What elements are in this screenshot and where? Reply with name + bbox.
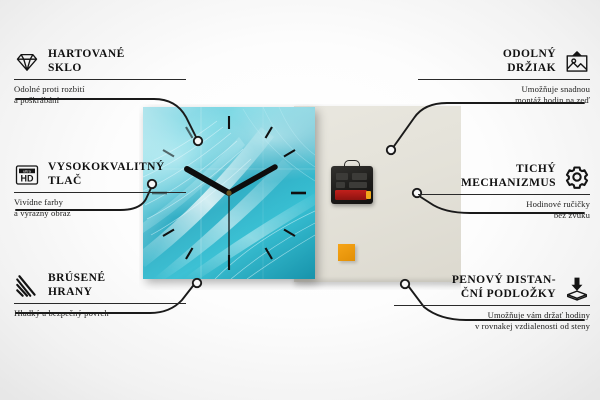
feature-durable-hanger: ODOLNÝ DRŽIAK Umožňuje snadnou montáž ho… xyxy=(418,48,590,105)
infographic-stage: HARTOVANÉ SKLO Odolné proti rozbití a po… xyxy=(0,0,600,400)
press-down-pad-icon xyxy=(564,275,590,301)
clock-movement xyxy=(331,166,373,204)
feature-description: Umožňuje snadnou montáž hodin na zeď xyxy=(418,84,590,105)
feature-title: PENOVÝ DISTAN- ČNÍ PODLOŽKY xyxy=(452,274,556,301)
feature-description: Odolné proti rozbití a poškrábání xyxy=(14,84,186,105)
foam-spacer-pad xyxy=(338,244,355,261)
clock-hands xyxy=(187,167,275,257)
feature-tempered-glass: HARTOVANÉ SKLO Odolné proti rozbití a po… xyxy=(14,48,186,105)
hour-hand xyxy=(187,169,229,193)
feature-title: ODOLNÝ DRŽIAK xyxy=(503,48,556,75)
feature-polished-edges: BRÚSENÉ HRANY Hladký a bezpečný povrch xyxy=(14,272,186,319)
ultra-hd-badge-icon: ultra HD xyxy=(14,162,40,188)
feature-divider xyxy=(14,79,186,80)
feature-divider xyxy=(14,303,186,304)
feature-high-quality-print: ultra HD VYSOKOKVALITNÝ TLAČ Vivídne far… xyxy=(14,161,186,218)
feature-divider xyxy=(14,192,186,193)
feature-header: HARTOVANÉ SKLO xyxy=(14,48,186,75)
feature-title: TICHÝ MECHANIZMUS xyxy=(461,163,556,190)
feature-divider xyxy=(418,79,590,80)
diagonal-stripes-icon xyxy=(14,273,40,299)
feature-description: Hladký a bezpečný povrch xyxy=(14,308,186,319)
feature-header: PENOVÝ DISTAN- ČNÍ PODLOŽKY xyxy=(394,274,590,301)
minute-hand xyxy=(229,167,275,193)
feature-divider xyxy=(418,194,590,195)
battery-terminal xyxy=(366,191,371,199)
feature-foam-spacers: PENOVÝ DISTAN- ČNÍ PODLOŽKY Umožňuje vám… xyxy=(394,274,590,331)
diamond-icon xyxy=(14,49,40,75)
feature-title: VYSOKOKVALITNÝ TLAČ xyxy=(48,161,165,188)
svg-text:HD: HD xyxy=(21,173,34,183)
feature-description: Hodinové ručičky bez zvuku xyxy=(418,199,590,220)
feature-header: BRÚSENÉ HRANY xyxy=(14,272,186,299)
feature-header: ODOLNÝ DRŽIAK xyxy=(418,48,590,75)
hands-hub xyxy=(226,190,231,195)
feature-title: BRÚSENÉ HRANY xyxy=(48,272,105,299)
feature-description: Umožňuje vám držať hodiny v rovnakej vzd… xyxy=(394,310,590,331)
feature-divider xyxy=(394,305,590,306)
feature-header: TICHÝ MECHANIZMUS xyxy=(418,163,590,190)
hanging-picture-frame-icon xyxy=(564,49,590,75)
gear-icon xyxy=(564,164,590,190)
feature-header: ultra HD VYSOKOKVALITNÝ TLAČ xyxy=(14,161,186,188)
product-photo xyxy=(139,104,461,290)
feature-description: Vivídne farby a výrazný obraz xyxy=(14,197,186,218)
movement-battery xyxy=(335,190,367,200)
movement-hanger xyxy=(344,160,360,168)
feature-title: HARTOVANÉ SKLO xyxy=(48,48,125,75)
feature-silent-mechanism: TICHÝ MECHANIZMUS Hodinové ručičky bez z… xyxy=(418,163,590,220)
